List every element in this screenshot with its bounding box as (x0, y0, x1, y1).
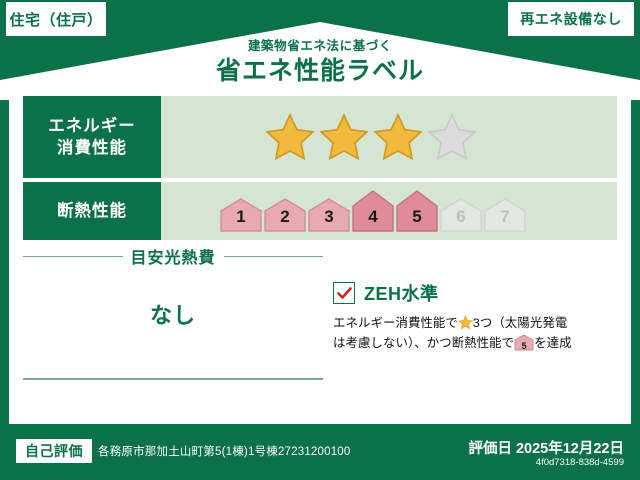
insulation-performance-value: 1234567 (161, 190, 617, 232)
insulation-level-3: 3 (307, 198, 351, 232)
insulation-level-number: 3 (307, 207, 351, 227)
insulation-level-5: 5 (395, 190, 439, 232)
star-icon (458, 315, 473, 330)
utility-cost-block: 目安光熱費 なし (23, 244, 323, 330)
energy-key-line1: エネルギー (48, 115, 136, 137)
insulation-level-7: 7 (483, 198, 527, 232)
zeh-description: エネルギー消費性能で 3つ（太陽光発電 は考慮しない）、かつ断熱性能で 5を達成 (333, 313, 617, 353)
insulation-house-icon: 5 (514, 334, 534, 351)
heading-rule-left (23, 256, 123, 257)
insulation-level-number: 1 (219, 207, 263, 227)
insulation-level-number: 7 (483, 207, 527, 227)
utility-cost-underline (23, 378, 323, 380)
insulation-performance-row: 断熱性能 1234567 (23, 182, 617, 240)
insulation-level-number: 2 (263, 207, 307, 227)
insulation-performance-label-key: 断熱性能 (23, 182, 161, 240)
evaluation-date: 評価日 2025年12月22日 (468, 437, 624, 458)
insulation-house-icon-num: 5 (514, 342, 534, 351)
footer: 自己評価 各務原市那加土山町第5(1棟)1号棟27231200100 評価日 2… (0, 430, 640, 480)
star-filled-icon (319, 112, 369, 162)
zeh-block: ZEH水準 エネルギー消費性能で 3つ（太陽光発電 は考慮しない）、かつ断熱性能… (333, 280, 617, 353)
insulation-key-line1: 断熱性能 (57, 200, 127, 222)
insulation-level-1: 1 (219, 198, 263, 232)
insulation-level-number: 5 (395, 207, 439, 227)
star-filled-icon (265, 112, 315, 162)
label-panel: エネルギー 消費性能 断熱性能 1234567 (9, 86, 631, 424)
utility-cost-heading-text: 目安光熱費 (131, 244, 216, 268)
star-empty-icon (427, 112, 477, 162)
zeh-desc-line1-a: エネルギー消費性能で (333, 316, 458, 330)
energy-performance-label-key: エネルギー 消費性能 (23, 96, 161, 178)
heading-rule-right (224, 256, 324, 257)
energy-performance-label: 住宅（住戸） 再エネ設備なし 建築物省エネ法に基づく 省エネ性能ラベル エネルギ… (0, 0, 640, 480)
insulation-level-4: 4 (351, 190, 395, 232)
property-address: 各務原市那加土山町第5(1棟)1号棟27231200100 (98, 443, 351, 459)
self-evaluation-badge: 自己評価 (16, 439, 92, 463)
zeh-heading: ZEH水準 (333, 280, 617, 306)
insulation-level-scale: 1234567 (219, 190, 527, 232)
insulation-level-2: 2 (263, 198, 307, 232)
check-icon (337, 287, 352, 300)
zeh-desc-line2-b: を達成 (534, 336, 571, 350)
insulation-level-number: 4 (351, 207, 395, 227)
label-panel-inner: エネルギー 消費性能 断熱性能 1234567 (23, 96, 617, 414)
evaluation-id: 4f0d7318-838d-4599 (536, 457, 624, 468)
utility-cost-value: なし (23, 298, 323, 330)
title-main: 省エネ性能ラベル (0, 59, 640, 84)
zeh-desc-line2-a: は考慮しない）、かつ断熱性能で (333, 336, 514, 350)
title-block: 建築物省エネ法に基づく 省エネ性能ラベル (0, 40, 640, 84)
tag-renewable-energy: 再エネ設備なし (508, 2, 634, 36)
energy-performance-value (161, 112, 617, 162)
star-filled-icon (373, 112, 423, 162)
energy-performance-row: エネルギー 消費性能 (23, 96, 617, 178)
insulation-level-number: 6 (439, 207, 483, 227)
insulation-level-6: 6 (439, 198, 483, 232)
title-subtitle: 建築物省エネ法に基づく (0, 40, 640, 53)
zeh-title: ZEH水準 (364, 280, 439, 306)
tag-housing-type: 住宅（住戸） (6, 2, 106, 36)
zeh-checkbox[interactable] (333, 282, 355, 304)
zeh-desc-line1-b: 3つ（太陽光発電 (473, 316, 567, 330)
utility-cost-heading: 目安光熱費 (23, 244, 323, 268)
bottom-section: 目安光熱費 なし ZEH水準 (23, 244, 617, 414)
energy-key-line2: 消費性能 (57, 137, 127, 159)
star-rating (265, 112, 477, 162)
